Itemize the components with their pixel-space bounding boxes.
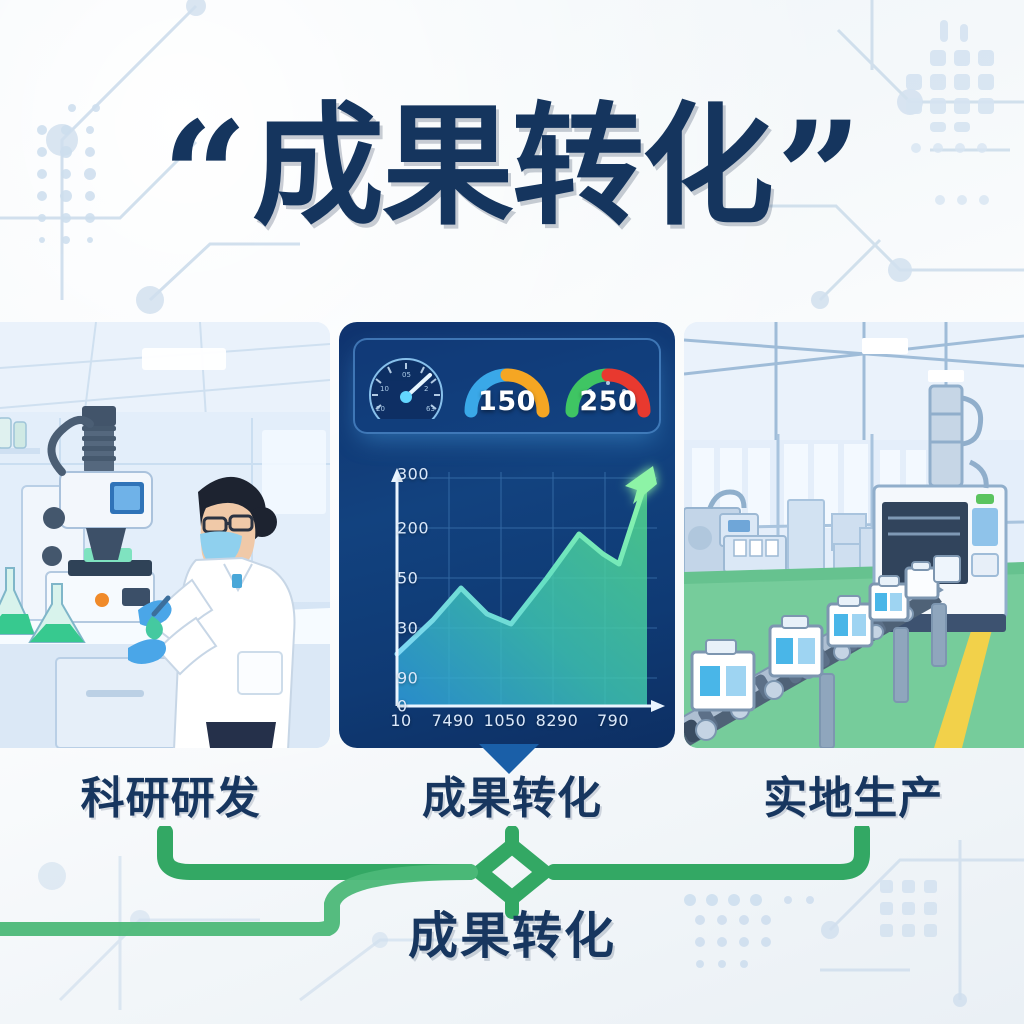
close-quote-mark: ” — [776, 102, 862, 252]
svg-text:10: 10 — [380, 385, 389, 393]
speedometer-gauge: 05 10 2 20 63 — [358, 353, 454, 419]
svg-text:63: 63 — [426, 405, 435, 413]
panel-lab-research[interactable] — [0, 322, 330, 748]
svg-text:05: 05 — [402, 371, 411, 379]
svg-text:20: 20 — [376, 405, 385, 413]
svg-text:2: 2 — [424, 385, 428, 393]
panel-dashboard[interactable]: 05 10 2 20 63 — [339, 322, 675, 748]
factory-illustration — [684, 322, 1024, 748]
title-row: “ 成果转化 ” — [0, 96, 1024, 252]
gauge-frame: 05 10 2 20 63 — [353, 338, 661, 434]
page-title: 成果转化 — [252, 96, 772, 239]
x-tick-2: 1050 — [484, 711, 527, 730]
x-tick-4: 790 — [597, 711, 629, 730]
growth-chart: 300 200 50 30 90 0 10 7490 1050 8290 790 — [351, 448, 669, 742]
lab-illustration — [0, 322, 330, 748]
bottom-label: 成果转化 — [0, 896, 1024, 968]
dashboard-pointer-tail — [479, 744, 539, 774]
poster-header: “ 成果转化 ” — [0, 0, 1024, 322]
open-quote-mark: “ — [162, 102, 248, 252]
panel-strip: 05 10 2 20 63 — [0, 322, 1024, 748]
x-tick-3: 8290 — [536, 711, 579, 730]
poster-root: “ 成果转化 ” — [0, 0, 1024, 1024]
x-tick-0: 10 — [390, 711, 411, 730]
green-red-gauge: 250 — [560, 353, 656, 419]
blue-orange-gauge: 150 — [459, 353, 555, 419]
panel-factory-production[interactable] — [684, 322, 1024, 748]
x-tick-1: 7490 — [432, 711, 475, 730]
green-red-gauge-value: 250 — [560, 386, 656, 417]
blue-orange-gauge-value: 150 — [459, 386, 555, 417]
